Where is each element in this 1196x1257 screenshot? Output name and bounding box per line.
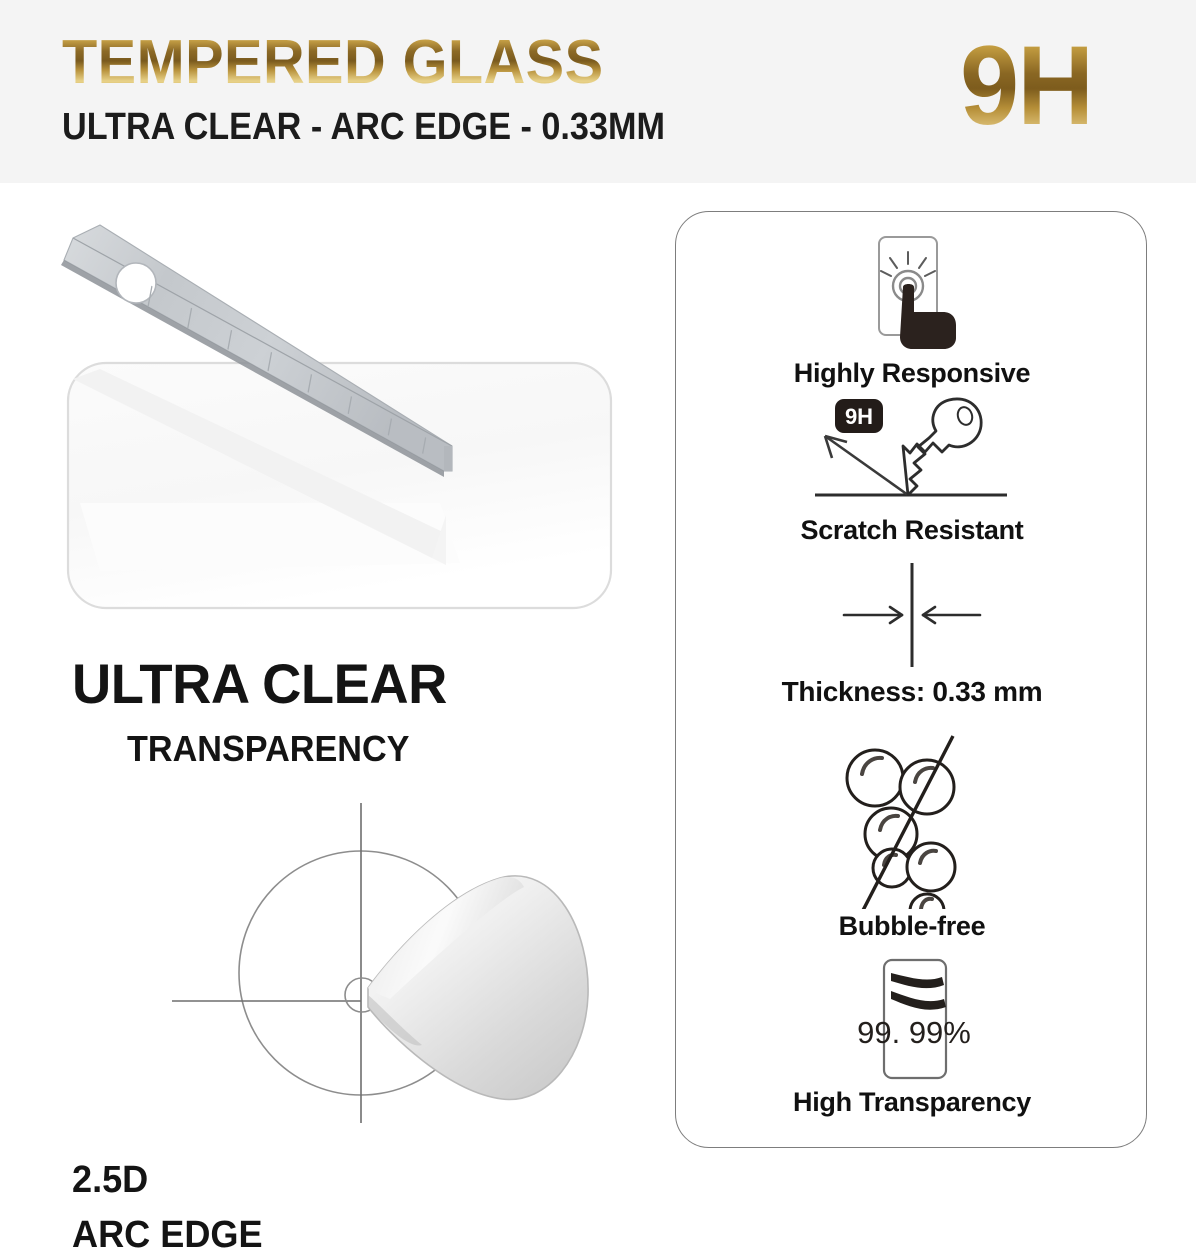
transparency-percent-value: 99. 99% [857, 1015, 971, 1050]
feature-high-transparency: 99. 99% High Transparency [676, 957, 1148, 1119]
svg-text:9H: 9H [845, 404, 873, 429]
header-content: TEMPERED GLASS ULTRA CLEAR - ARC EDGE - … [0, 0, 1196, 183]
feature-bubble-free: Bubble-free [676, 734, 1148, 943]
feature-label: High Transparency [676, 1085, 1148, 1119]
left-column: ULTRA CLEAR TRANSPARENCY [0, 183, 660, 1161]
touch-screen-finger-icon [837, 234, 987, 356]
header-band: TEMPERED GLASS ULTRA CLEAR - ARC EDGE - … [0, 0, 1196, 183]
thickness-arrows-icon [782, 557, 1042, 675]
page-subtitle: ULTRA CLEAR - ARC EDGE - 0.33MM [62, 104, 665, 150]
blade-and-glass-illustration [40, 203, 640, 653]
feature-label: Thickness: 0.33 mm [676, 675, 1148, 709]
feature-label: Bubble-free [676, 909, 1148, 943]
key-scratch-icon: 9H [777, 395, 1047, 513]
feature-label: Highly Responsive [676, 356, 1148, 390]
arc-edge-cross-section-icon [368, 876, 588, 1100]
ultra-clear-heading: ULTRA CLEAR [72, 653, 447, 715]
transparency-subheading: TRANSPARENCY [127, 728, 409, 770]
transparency-phone-icon: 99. 99% [832, 957, 992, 1085]
arc-edge-illustration [50, 783, 650, 1123]
feature-label: Scratch Resistant [676, 513, 1148, 547]
badge-9h: 9H [835, 399, 883, 433]
features-panel: Highly Responsive 9H Scratch Resistant [675, 211, 1147, 1148]
bubbles-crossed-out-icon [812, 734, 1012, 909]
page-title: TEMPERED GLASS [62, 28, 604, 98]
feature-scratch-resistant: 9H Scratch Resistant [676, 395, 1148, 547]
arc-edge-label-2-5d: 2.5D [72, 1158, 148, 1202]
hardness-badge-9h: 9H [960, 24, 1092, 148]
feature-highly-responsive: Highly Responsive [676, 234, 1148, 390]
arc-edge-label-text: ARC EDGE [72, 1213, 263, 1257]
feature-thickness: Thickness: 0.33 mm [676, 557, 1148, 709]
